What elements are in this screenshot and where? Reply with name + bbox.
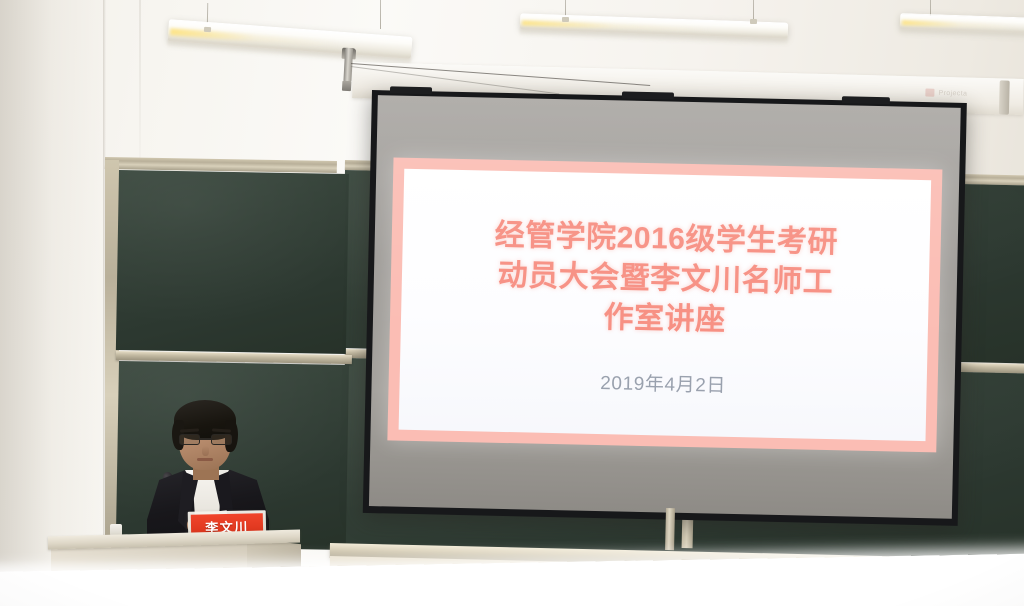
screen-support-pole	[665, 508, 675, 550]
glasses-lens-right	[211, 434, 232, 445]
slide-title: 经管学院2016级学生考研 动员大会暨李文川名师工 作室讲座	[493, 215, 839, 343]
projection-screen: 经管学院2016级学生考研 动员大会暨李文川名师工 作室讲座 2019年4月2日	[363, 90, 967, 526]
glasses-bridge	[200, 438, 211, 440]
speaker-nose	[202, 446, 209, 456]
slide-title-line-3: 作室讲座	[493, 296, 837, 344]
wall-seam	[139, 0, 141, 160]
light-suspension-rod	[380, 0, 381, 29]
housing-endcap	[999, 80, 1010, 114]
light-mount-cap	[750, 19, 757, 24]
screen-mount-bracket	[340, 48, 356, 93]
screen-top-tab	[622, 91, 674, 99]
ceiling-light-fixture	[900, 13, 1024, 35]
glasses-icon	[179, 434, 232, 446]
screen-surface: 经管学院2016级学生考研 动员大会暨李文川名师工 作室讲座 2019年4月2日	[369, 95, 961, 519]
light-mount-cap	[562, 17, 569, 22]
lecture-hall-scene: Projecta 经管学院2016级学生考研 动员大会暨李文川名师工 作室讲座 …	[0, 0, 1024, 606]
brand-mark-icon	[925, 88, 934, 96]
housing-brand-logo: Projecta	[925, 88, 967, 97]
blackboard-panel-left-upper	[116, 170, 349, 354]
bracket-body	[343, 48, 353, 82]
glasses-lens-left	[179, 434, 200, 445]
presentation-slide: 经管学院2016级学生考研 动员大会暨李文川名师工 作室讲座 2019年4月2日	[387, 157, 942, 452]
slide-date: 2019年4月2日	[600, 368, 726, 398]
screen-top-tab	[390, 86, 432, 94]
speaker-mouth	[197, 458, 213, 461]
bracket-foot	[342, 81, 352, 91]
slide-content-area: 经管学院2016级学生考研 动员大会暨李文川名师工 作室讲座 2019年4月2日	[399, 169, 932, 441]
screen-top-tab	[842, 96, 890, 104]
slide-title-line-2: 动员大会暨李文川名师工	[493, 256, 837, 304]
wall-left-shadow	[0, 0, 108, 606]
brand-logo-text: Projecta	[938, 89, 967, 97]
light-mount-cap	[204, 27, 211, 32]
